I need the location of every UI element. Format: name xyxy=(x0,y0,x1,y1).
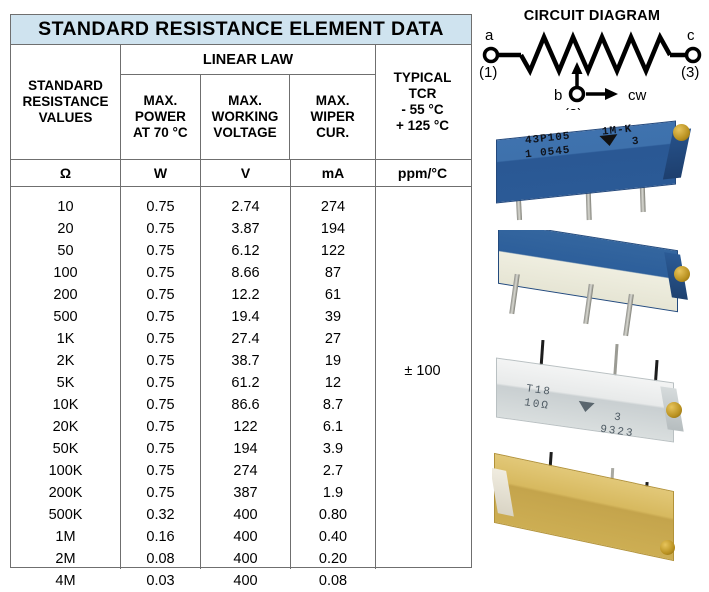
mark-wiper-triangle xyxy=(577,401,594,413)
resistance-value: 500 xyxy=(11,306,120,328)
table-body: 1020501002005001K2K5K10K20K50K100K200K50… xyxy=(11,187,471,569)
max-wiper-current-value: 12 xyxy=(291,372,375,394)
max-working-voltage-value: 400 xyxy=(201,570,290,592)
terminal-c-label: c xyxy=(687,27,695,44)
max-working-voltage-value: 61.2 xyxy=(201,372,290,394)
terminal-a-number: (1) xyxy=(479,64,497,81)
header-col4-text: TYPICAL TCR - 55 °C + 125 °C xyxy=(394,70,452,134)
unit-ohm: Ω xyxy=(11,160,121,186)
mark-wiper-triangle xyxy=(599,134,618,147)
trimmer-body xyxy=(494,453,674,561)
resistance-value: 10K xyxy=(11,394,120,416)
max-working-voltage-value: 3.87 xyxy=(201,218,290,240)
wiper-arrowhead xyxy=(572,62,583,74)
header-col2-text: MAX. WORKING VOLTAGE xyxy=(212,93,279,141)
adjustment-screw xyxy=(674,266,690,282)
resistance-value: 5K xyxy=(11,372,120,394)
resistance-value: 10 xyxy=(11,196,120,218)
tcr-value: ± 100 xyxy=(376,363,469,379)
max-power-value: 0.32 xyxy=(121,504,200,526)
header-typical-tcr: TYPICAL TCR - 55 °C + 125 °C xyxy=(376,45,469,159)
header-max-power: MAX. POWER AT 70 °C xyxy=(121,75,201,159)
header-max-working-voltage: MAX. WORKING VOLTAGE xyxy=(201,75,291,159)
resistance-value: 1M xyxy=(11,526,120,548)
terminal-b-node xyxy=(571,88,584,101)
max-power-value: 0.75 xyxy=(121,372,200,394)
max-working-voltage-value: 12.2 xyxy=(201,284,290,306)
circuit-diagram: CIRCUIT DIAGRAM a (1) c (3) b (2) cw xyxy=(478,8,706,112)
max-power-value: 0.16 xyxy=(121,526,200,548)
column-resistance-values: 1020501002005001K2K5K10K20K50K100K200K50… xyxy=(11,187,121,569)
terminal-c-number: (3) xyxy=(681,64,699,81)
terminal-b-label: b xyxy=(554,87,562,104)
product-photo-blue-trimmer-top: 43P105 1M-K 1 0545 3 xyxy=(492,116,706,228)
header-standard-resistance-values: STANDARD RESISTANCE VALUES xyxy=(11,45,121,159)
unit-volt: V xyxy=(201,160,291,186)
header-col0-text: STANDARD RESISTANCE VALUES xyxy=(22,78,108,126)
cw-arrowhead xyxy=(605,88,618,100)
resistance-value: 2M xyxy=(11,548,120,570)
rotation-direction-label: cw xyxy=(628,87,647,104)
max-power-value: 0.75 xyxy=(121,460,200,482)
max-working-voltage-value: 6.12 xyxy=(201,240,290,262)
column-max-power: 0.750.750.750.750.750.750.750.750.750.75… xyxy=(121,187,201,569)
header-linear-law: LINEAR LAW xyxy=(121,45,375,75)
max-working-voltage-value: 27.4 xyxy=(201,328,290,350)
resistance-value: 2K xyxy=(11,350,120,372)
header-col3-text: MAX. WIPER CUR. xyxy=(311,93,355,141)
column-max-working-voltage: 2.743.876.128.6612.219.427.438.761.286.6… xyxy=(201,187,291,569)
resistance-value: 20K xyxy=(11,416,120,438)
resistance-value: 200K xyxy=(11,482,120,504)
max-working-voltage-value: 19.4 xyxy=(201,306,290,328)
max-power-value: 0.75 xyxy=(121,240,200,262)
circuit-diagram-title: CIRCUIT DIAGRAM xyxy=(478,8,706,24)
max-working-voltage-value: 38.7 xyxy=(201,350,290,372)
max-working-voltage-value: 400 xyxy=(201,526,290,548)
max-power-value: 0.08 xyxy=(121,548,200,570)
product-photo-gold-trimmer xyxy=(492,452,706,580)
product-photo-white-trimmer-top: T18 10Ω 3 9323 xyxy=(492,340,706,452)
trimmer-body xyxy=(496,357,674,442)
column-max-wiper-current: 2741941228761392719128.76.13.92.71.90.80… xyxy=(291,187,376,569)
unit-watt: W xyxy=(121,160,201,186)
max-power-value: 0.03 xyxy=(121,570,200,592)
max-power-value: 0.75 xyxy=(121,482,200,504)
terminal-a-label: a xyxy=(485,27,494,44)
adjustment-screw xyxy=(673,124,690,141)
resistance-value: 50K xyxy=(11,438,120,460)
max-working-voltage-value: 86.6 xyxy=(201,394,290,416)
max-wiper-current-value: 1.9 xyxy=(291,482,375,504)
max-wiper-current-value: 0.20 xyxy=(291,548,375,570)
unit-milliamp: mA xyxy=(291,160,376,186)
table-units-row: Ω W V mA ppm/°C xyxy=(11,160,471,187)
max-working-voltage-value: 122 xyxy=(201,416,290,438)
max-working-voltage-value: 194 xyxy=(201,438,290,460)
max-working-voltage-value: 387 xyxy=(201,482,290,504)
max-working-voltage-value: 2.74 xyxy=(201,196,290,218)
resistor-zigzag xyxy=(521,37,670,71)
max-wiper-current-value: 61 xyxy=(291,284,375,306)
unit-ppm-per-degc: ppm/°C xyxy=(376,160,469,186)
max-power-value: 0.75 xyxy=(121,350,200,372)
linear-law-group: LINEAR LAW MAX. POWER AT 70 °C MAX. WORK… xyxy=(121,45,376,159)
max-wiper-current-value: 6.1 xyxy=(291,416,375,438)
max-power-value: 0.75 xyxy=(121,394,200,416)
max-wiper-current-value: 3.9 xyxy=(291,438,375,460)
resistance-value: 4M xyxy=(11,570,120,592)
max-power-value: 0.75 xyxy=(121,328,200,350)
terminal-b-number: (2) xyxy=(564,106,582,110)
max-wiper-current-value: 0.40 xyxy=(291,526,375,548)
max-wiper-current-value: 19 xyxy=(291,350,375,372)
max-power-value: 0.75 xyxy=(121,416,200,438)
mark-terminal-3: 3 xyxy=(631,136,640,149)
adjustment-screw xyxy=(666,402,682,418)
column-typical-tcr: ± 100 xyxy=(376,187,469,569)
max-working-voltage-value: 400 xyxy=(201,504,290,526)
header-col1-text: MAX. POWER AT 70 °C xyxy=(133,93,188,141)
max-working-voltage-value: 8.66 xyxy=(201,262,290,284)
max-power-value: 0.75 xyxy=(121,218,200,240)
resistance-value: 500K xyxy=(11,504,120,526)
max-working-voltage-value: 400 xyxy=(201,548,290,570)
product-photo-blue-trimmer-bottom xyxy=(492,230,706,338)
max-power-value: 0.75 xyxy=(121,262,200,284)
resistance-value: 20 xyxy=(11,218,120,240)
adjustment-screw xyxy=(660,540,675,555)
max-wiper-current-value: 87 xyxy=(291,262,375,284)
resistance-value: 200 xyxy=(11,284,120,306)
trimmer-body xyxy=(496,121,676,204)
resistance-value: 50 xyxy=(11,240,120,262)
resistance-value: 1K xyxy=(11,328,120,350)
max-wiper-current-value: 274 xyxy=(291,196,375,218)
resistance-value: 100 xyxy=(11,262,120,284)
terminal-c-node xyxy=(687,49,700,62)
max-power-value: 0.75 xyxy=(121,284,200,306)
max-wiper-current-value: 122 xyxy=(291,240,375,262)
max-working-voltage-value: 274 xyxy=(201,460,290,482)
circuit-schematic-svg: a (1) c (3) b (2) cw xyxy=(478,24,706,110)
max-wiper-current-value: 2.7 xyxy=(291,460,375,482)
terminal-a-node xyxy=(485,49,498,62)
max-power-value: 0.75 xyxy=(121,438,200,460)
max-wiper-current-value: 39 xyxy=(291,306,375,328)
table-title: STANDARD RESISTANCE ELEMENT DATA xyxy=(11,15,471,45)
header-max-wiper-cur: MAX. WIPER CUR. xyxy=(290,75,375,159)
max-wiper-current-value: 8.7 xyxy=(291,394,375,416)
table-header-row: STANDARD RESISTANCE VALUES LINEAR LAW MA… xyxy=(11,45,471,160)
max-wiper-current-value: 0.08 xyxy=(291,570,375,592)
max-wiper-current-value: 27 xyxy=(291,328,375,350)
max-wiper-current-value: 0.80 xyxy=(291,504,375,526)
standard-resistance-element-table: STANDARD RESISTANCE ELEMENT DATA STANDAR… xyxy=(10,14,472,568)
max-wiper-current-value: 194 xyxy=(291,218,375,240)
resistance-value: 100K xyxy=(11,460,120,482)
max-power-value: 0.75 xyxy=(121,196,200,218)
max-power-value: 0.75 xyxy=(121,306,200,328)
